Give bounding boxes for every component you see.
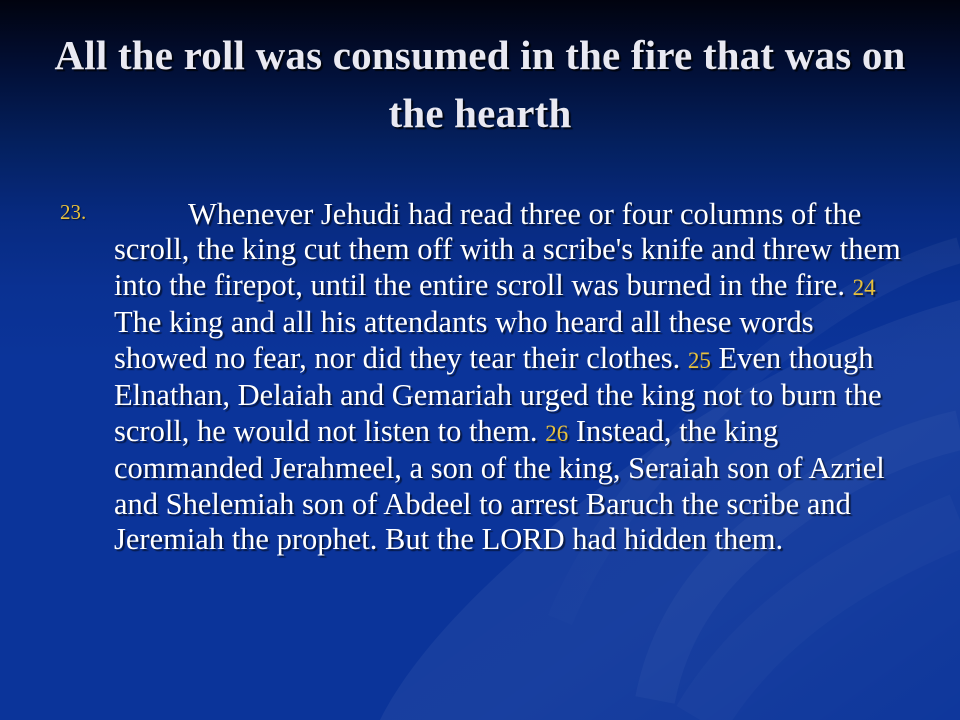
- slide-title: All the roll was consumed in the fire th…: [48, 26, 912, 142]
- slide-body: 23.Whenever Jehudi had read three or fou…: [52, 166, 914, 588]
- scripture-runs: Whenever Jehudi had read three or four c…: [114, 197, 901, 557]
- slide-title-text: All the roll was consumed in the fire th…: [48, 26, 912, 142]
- verse-number: 25: [688, 348, 711, 373]
- presentation-slide: All the roll was consumed in the fire th…: [0, 0, 960, 720]
- scripture-paragraph: 23.Whenever Jehudi had read three or fou…: [52, 197, 914, 558]
- scripture-text-run: Whenever Jehudi had read three or four c…: [114, 197, 901, 302]
- verse-number: 26: [545, 421, 568, 446]
- bullet-number: 23.: [60, 202, 86, 223]
- verse-number: 24: [853, 275, 876, 300]
